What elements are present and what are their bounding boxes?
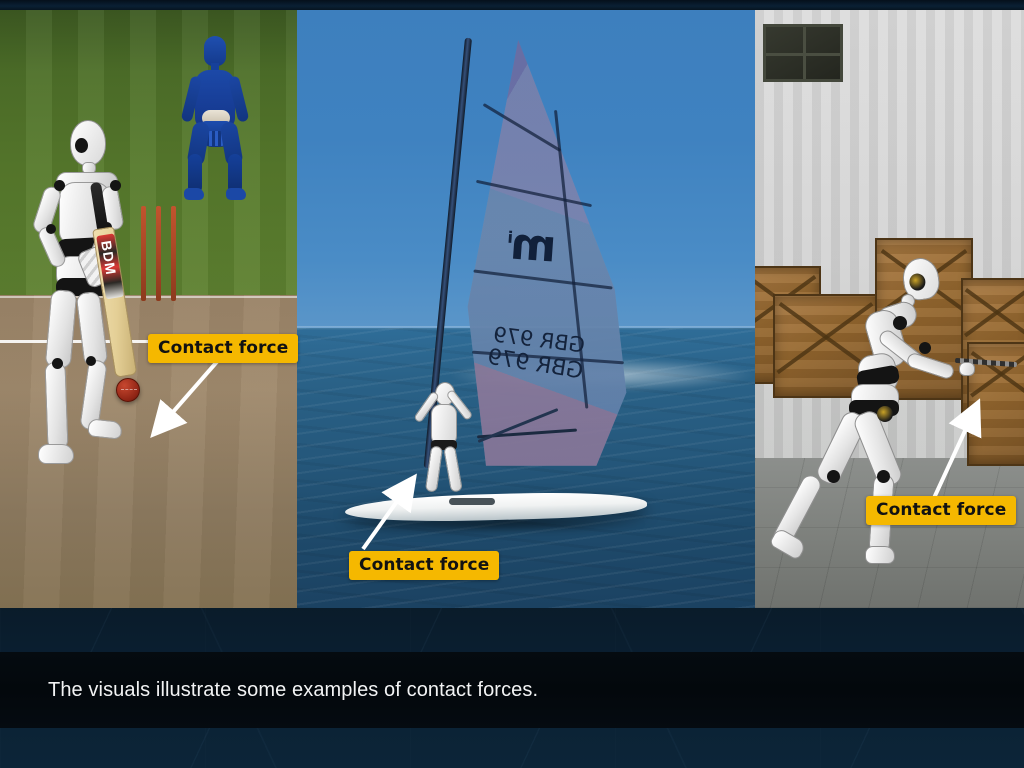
- surfer-left-leg: [425, 445, 443, 492]
- batsman-right-shoulder-joint: [110, 180, 121, 191]
- puller-elbow-joint: [919, 342, 931, 354]
- sail-brand-logo: mi: [507, 218, 558, 272]
- batsman-left-elbow-joint: [46, 224, 56, 234]
- batsman-left-shoulder-joint: [54, 180, 65, 191]
- wicketkeeper-figure: [182, 36, 248, 201]
- batsman-left-knee-joint: [52, 358, 63, 369]
- batsman-head: [70, 120, 106, 166]
- slide-canvas: BDM mi GBR 979 GBR 979: [0, 0, 1024, 768]
- batsman-right-knee-joint: [86, 356, 96, 366]
- batsman-figure: [30, 120, 150, 540]
- puller-hip-joint: [877, 406, 893, 422]
- puller-eye: [908, 273, 926, 292]
- puller-shoulder-joint: [893, 316, 907, 330]
- board-foot-strap: [449, 498, 495, 505]
- contact-force-label-warehouse: Contact force: [866, 496, 1016, 525]
- puller-back-foot: [768, 527, 807, 561]
- windsurfer-figure: [421, 382, 469, 504]
- panel-cricket-scene[interactable]: BDM: [0, 10, 297, 608]
- keeper-left-foot: [184, 188, 204, 200]
- top-edge-strip: [0, 0, 1024, 10]
- cricket-ball: [116, 378, 140, 402]
- contact-force-label-cricket: Contact force: [148, 334, 298, 363]
- batsman-right-foot: [87, 418, 123, 439]
- panel-windsurf-scene[interactable]: mi GBR 979 GBR 979: [297, 10, 755, 608]
- contact-force-label-windsurf: Contact force: [349, 551, 499, 580]
- caption-text: The visuals illustrate some examples of …: [48, 650, 948, 730]
- sail-logo-letter: m: [511, 219, 558, 273]
- batsman-left-thigh: [45, 289, 78, 369]
- puller-hand: [959, 362, 975, 376]
- keeper-head: [204, 36, 226, 66]
- puller-front-knee-joint: [877, 470, 890, 483]
- surfer-right-leg: [443, 445, 463, 492]
- batsman-left-shin: [44, 362, 68, 451]
- batsman-left-foot: [38, 444, 74, 464]
- puller-back-knee-joint: [827, 470, 840, 483]
- warehouse-window: [763, 24, 843, 82]
- batsman-eye: [75, 138, 88, 153]
- puller-forearm: [905, 351, 955, 380]
- puller-front-foot: [865, 546, 895, 564]
- keeper-right-foot: [226, 188, 246, 200]
